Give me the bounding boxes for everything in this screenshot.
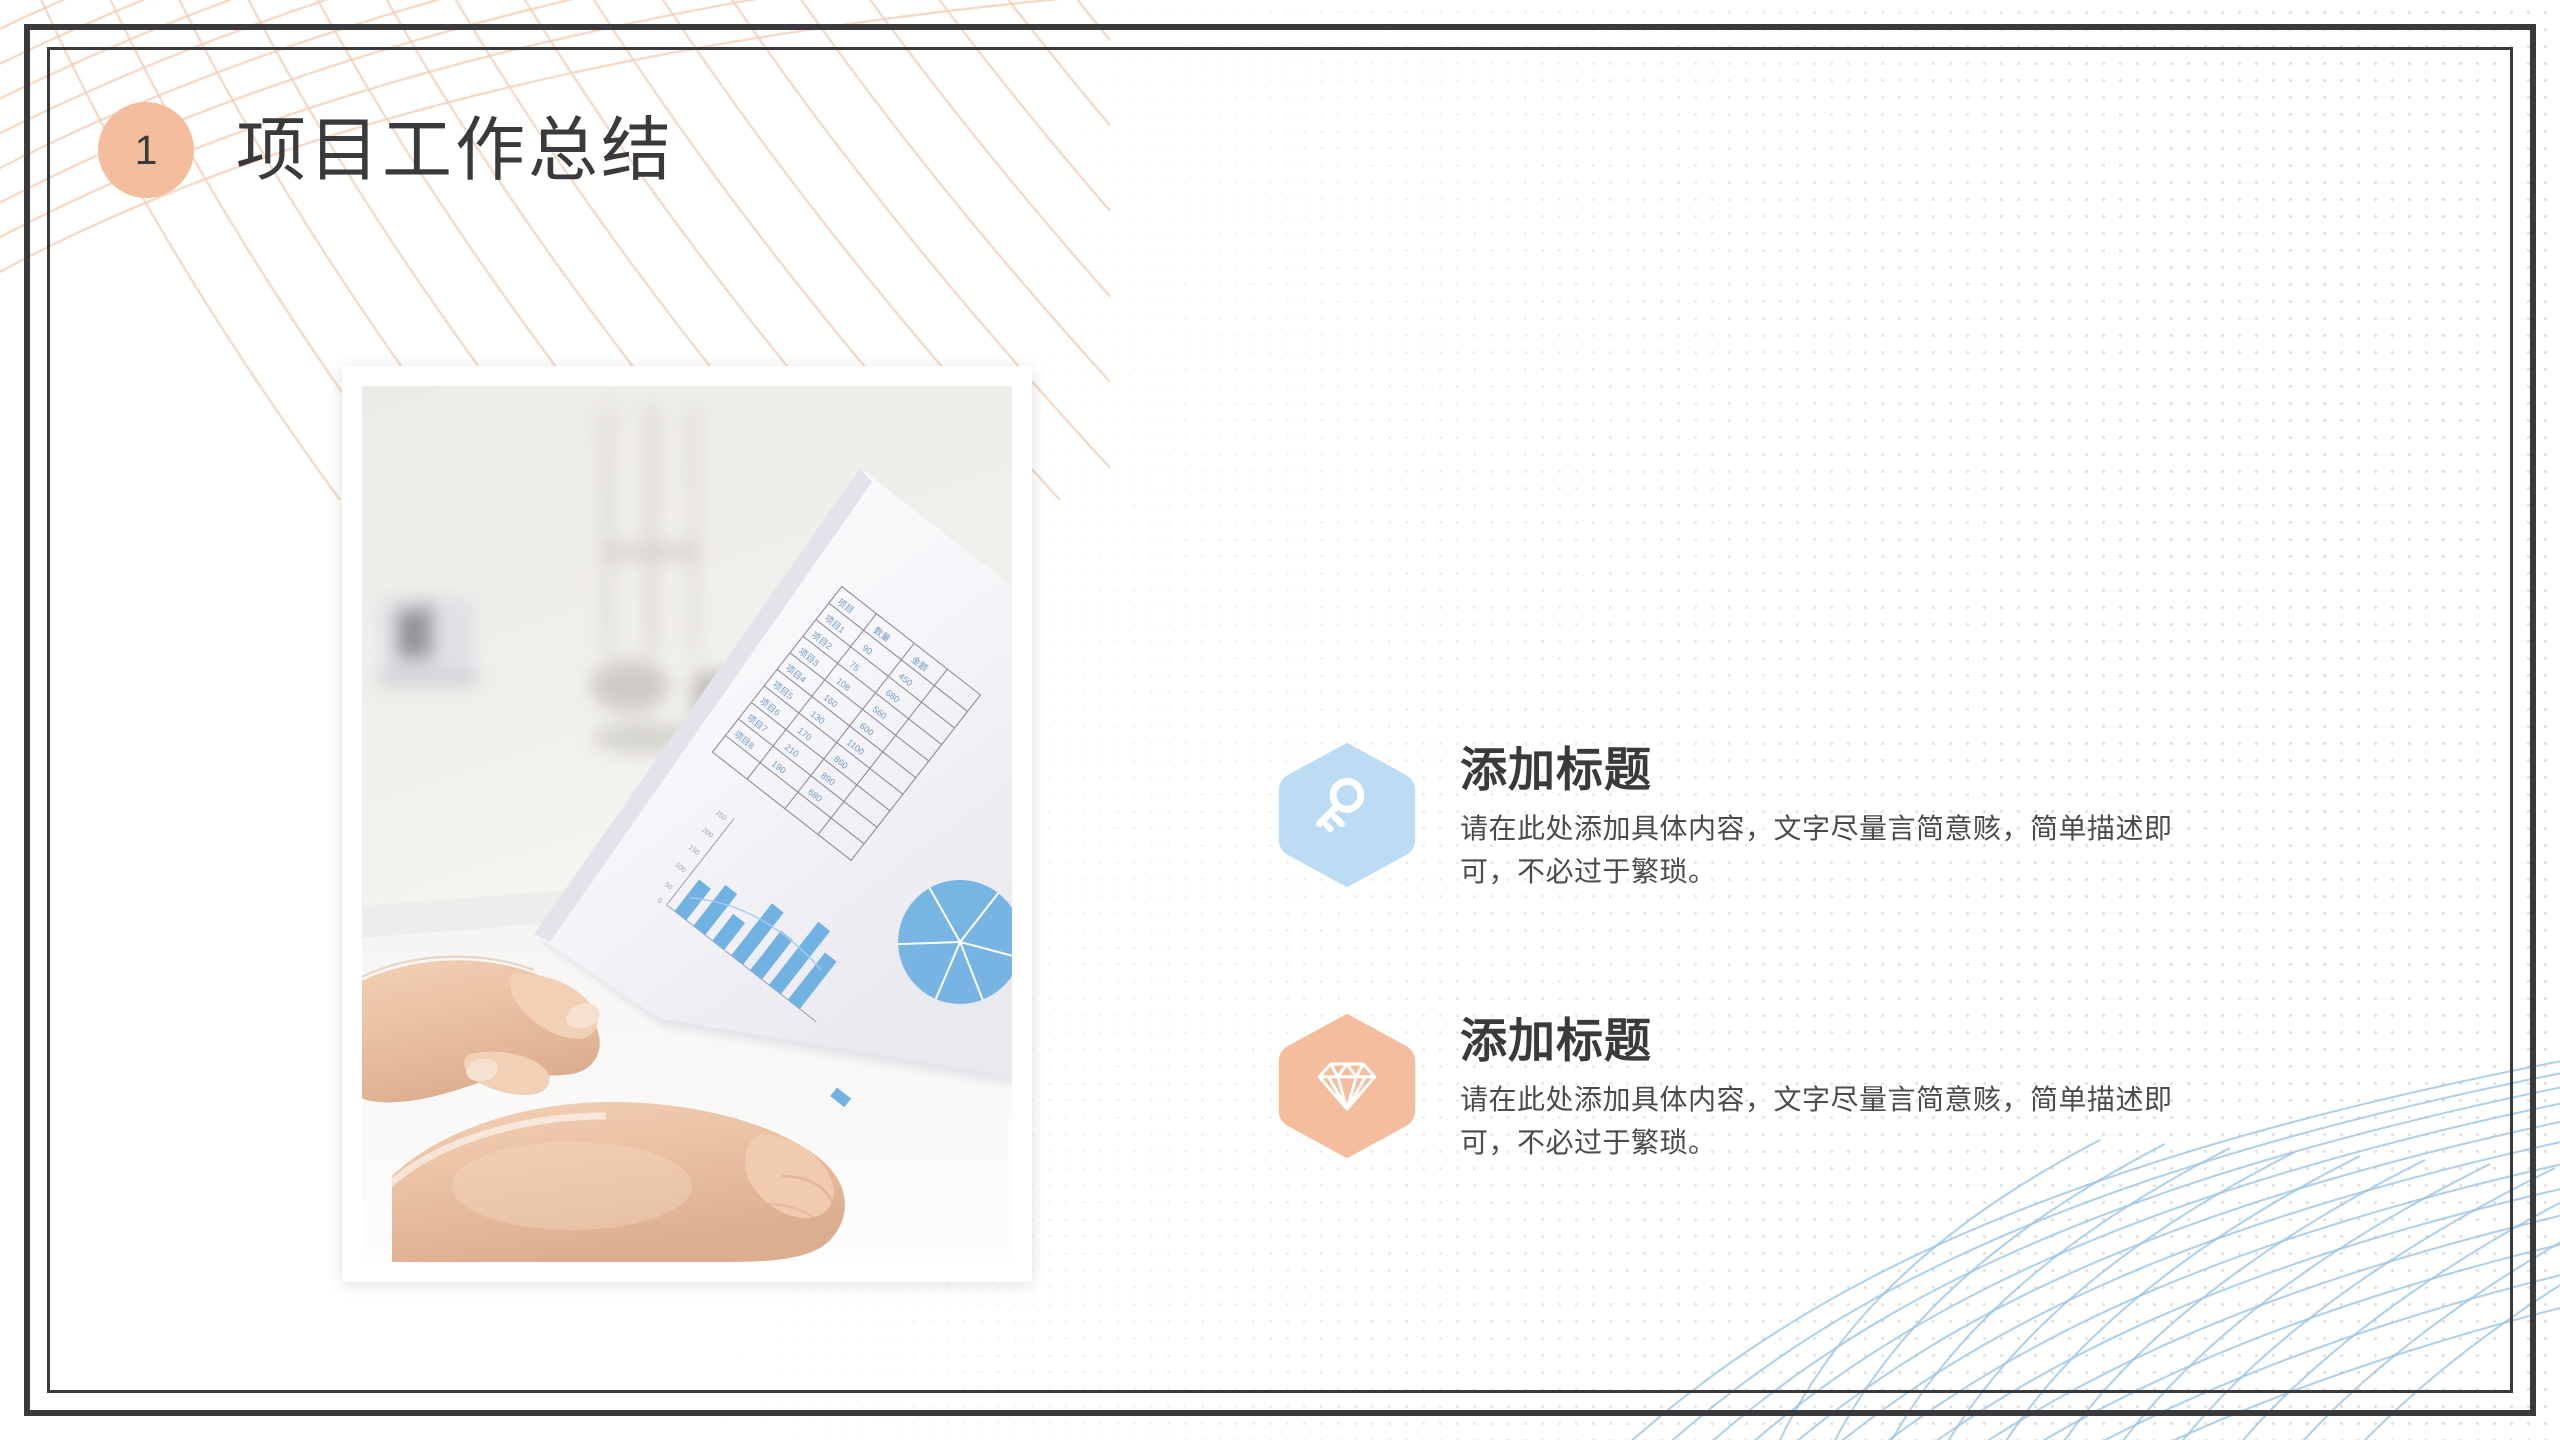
slide-header: 1 项目工作总结 [98,102,674,198]
feature-text: 添加标题 请在此处添加具体内容，文字尽量言简意赅，简单描述即可，不必过于繁琐。 [1460,1011,2200,1164]
feature-description: 请在此处添加具体内容，文字尽量言简意赅，简单描述即可，不必过于繁琐。 [1460,807,2200,894]
presentation-slide: 1 项目工作总结 [0,0,2560,1440]
section-number: 1 [135,130,158,171]
photo-image: 项目 数量 金额 项目190450 项目275680 项目3108560 项目4… [362,386,1012,1262]
page-title: 项目工作总结 [236,115,674,185]
feature-title: 添加标题 [1460,744,2200,797]
feature-item: 添加标题 请在此处添加具体内容，文字尽量言简意赅，简单描述即可，不必过于繁琐。 [1278,740,2398,893]
feature-list: 添加标题 请在此处添加具体内容，文字尽量言简意赅，简单描述即可，不必过于繁琐。 [1278,740,2398,1165]
feature-item: 添加标题 请在此处添加具体内容，文字尽量言简意赅，简单描述即可，不必过于繁琐。 [1278,1011,2398,1164]
section-number-badge: 1 [98,102,194,198]
feature-description: 请在此处添加具体内容，文字尽量言简意赅，简单描述即可，不必过于繁琐。 [1460,1078,2200,1165]
diamond-icon [1278,1011,1416,1161]
feature-title: 添加标题 [1460,1015,2200,1068]
key-icon [1278,740,1416,890]
photo-frame: 项目 数量 金额 项目190450 项目275680 项目3108560 项目4… [342,366,1032,1282]
feature-text: 添加标题 请在此处添加具体内容，文字尽量言简意赅，简单描述即可，不必过于繁琐。 [1460,740,2200,893]
